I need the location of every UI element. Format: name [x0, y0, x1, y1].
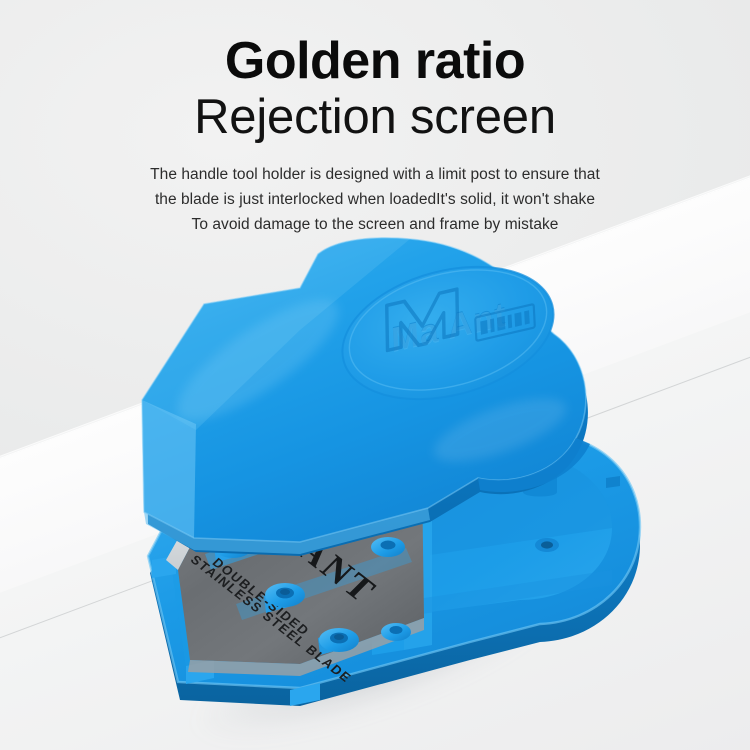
marketing-text-block: Golden ratio Rejection screen The handle… — [0, 0, 750, 237]
screw-hole-lower — [535, 538, 559, 552]
description-block: The handle tool holder is designed with … — [0, 162, 750, 237]
page-title: Golden ratio — [0, 34, 750, 88]
description-line-3: To avoid damage to the screen and frame … — [0, 212, 750, 237]
description-line-2: the blade is just interlocked when loade… — [0, 187, 750, 212]
page-subtitle: Rejection screen — [0, 90, 750, 146]
description-line-1: The handle tool holder is designed with … — [0, 162, 750, 187]
